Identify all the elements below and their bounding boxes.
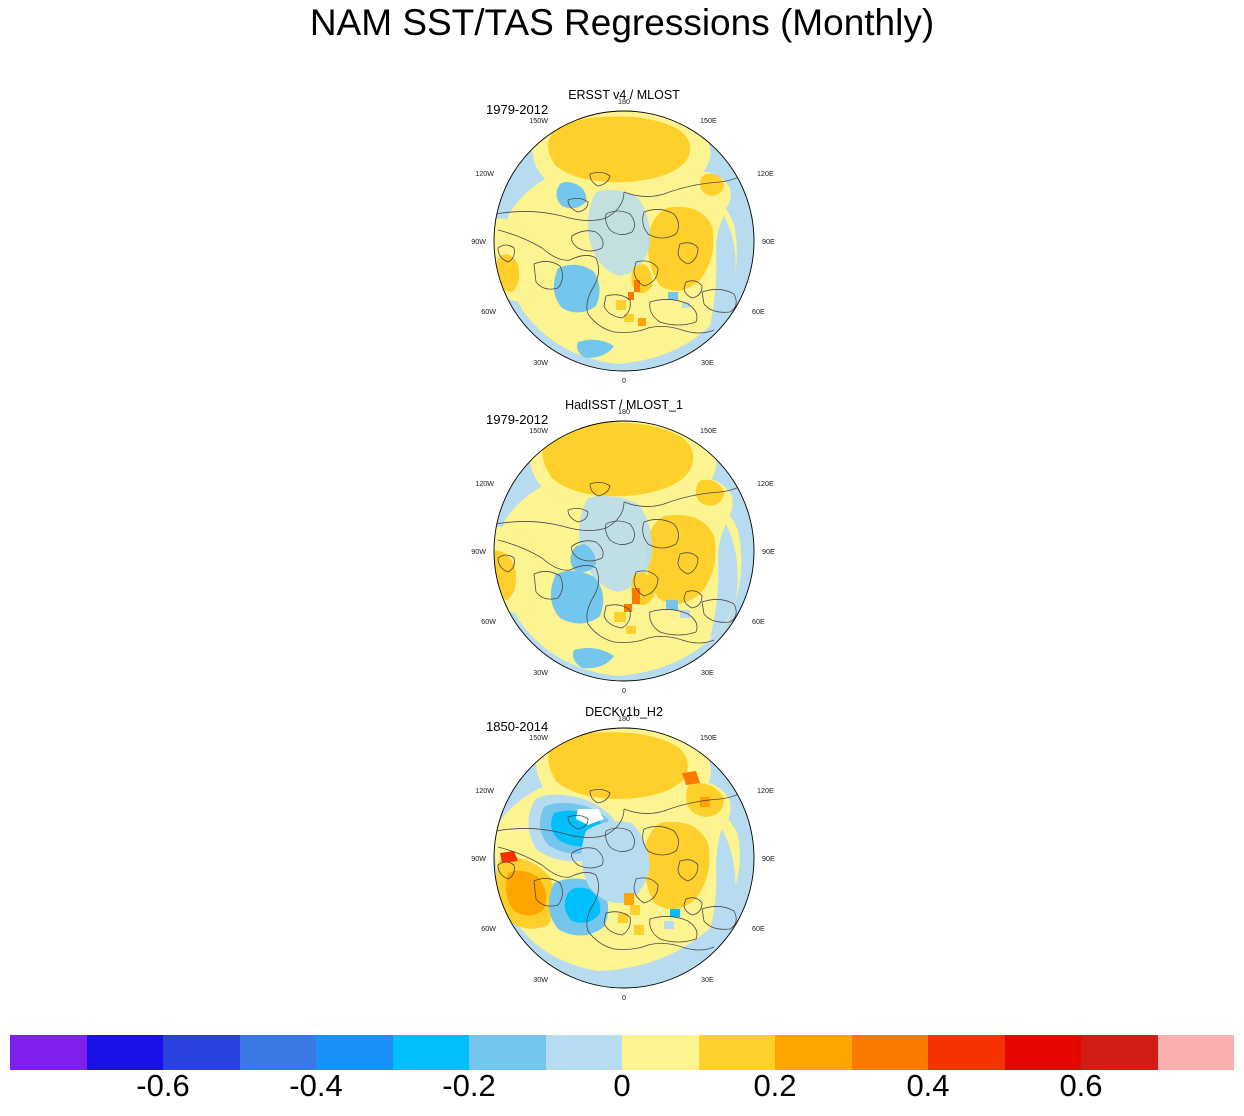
colorbar-cell: [240, 1035, 317, 1070]
colorbar-cell: [622, 1035, 699, 1070]
svg-text:60E: 60E: [752, 307, 765, 316]
colorbar-cell: [546, 1035, 623, 1070]
colorbar-cell: [393, 1035, 470, 1070]
colorbar-cell: [1081, 1035, 1158, 1070]
svg-text:180: 180: [618, 407, 630, 416]
svg-text:150E: 150E: [700, 426, 717, 435]
colorbar-tick: 0.4: [906, 1068, 949, 1104]
svg-text:60E: 60E: [752, 617, 765, 626]
colorbar-cell: [316, 1035, 393, 1070]
svg-text:30W: 30W: [533, 668, 548, 677]
colorbar-cell: [10, 1035, 87, 1070]
figure-root: NAM SST/TAS Regressions (Monthly) ERSST …: [0, 0, 1244, 1116]
svg-text:150W: 150W: [529, 116, 548, 125]
svg-text:60E: 60E: [752, 924, 765, 933]
colorbar-cell: [469, 1035, 546, 1070]
colorbar-cell: [699, 1035, 776, 1070]
colorbar-cell: [1158, 1035, 1235, 1070]
svg-text:120E: 120E: [757, 479, 774, 488]
page-title: NAM SST/TAS Regressions (Monthly): [0, 2, 1244, 44]
svg-text:120W: 120W: [475, 786, 494, 795]
polar-map-svg-1: 180 150E 120E 90E 60E 30E 0 30W 60W 90W …: [438, 96, 810, 386]
svg-text:0: 0: [622, 993, 626, 1002]
colorbar-cell: [775, 1035, 852, 1070]
colorbar-tick: 0: [613, 1068, 630, 1104]
svg-text:60W: 60W: [481, 924, 496, 933]
polar-map-svg-2: 180 150E 120E 90E 60E 30E 0 30W 60W 90W …: [438, 406, 810, 696]
svg-text:30W: 30W: [533, 358, 548, 367]
colorbar-tick: 0.6: [1059, 1068, 1102, 1104]
colorbar-tick: -0.6: [136, 1068, 189, 1104]
svg-text:150E: 150E: [700, 733, 717, 742]
svg-text:30E: 30E: [701, 358, 714, 367]
colorbar-cell: [852, 1035, 929, 1070]
svg-text:30E: 30E: [701, 975, 714, 984]
svg-text:150W: 150W: [529, 733, 548, 742]
colorbar-cell: [163, 1035, 240, 1070]
svg-text:120W: 120W: [475, 169, 494, 178]
svg-text:60W: 60W: [481, 307, 496, 316]
svg-text:90E: 90E: [762, 854, 775, 863]
colorbar-tick-labels: -0.6-0.4-0.200.20.40.6: [0, 1068, 1244, 1114]
map-fields-2: [483, 415, 754, 681]
polar-map-svg-3: 180 150E 120E 90E 60E 30E 0 30W 60W 90W …: [438, 713, 810, 1003]
svg-text:90W: 90W: [471, 547, 486, 556]
colorbar-tick: 0.2: [753, 1068, 796, 1104]
svg-text:150E: 150E: [700, 116, 717, 125]
svg-text:120W: 120W: [475, 479, 494, 488]
colorbar: [10, 1035, 1234, 1070]
svg-text:150W: 150W: [529, 426, 548, 435]
colorbar-tick: -0.2: [442, 1068, 495, 1104]
colorbar-tick: -0.4: [289, 1068, 342, 1104]
svg-text:90E: 90E: [762, 237, 775, 246]
svg-text:30E: 30E: [701, 668, 714, 677]
svg-text:180: 180: [618, 714, 630, 723]
map-panel-1: 180 150E 120E 90E 60E 30E 0 30W 60W 90W …: [438, 96, 810, 386]
svg-text:180: 180: [618, 97, 630, 106]
svg-text:30W: 30W: [533, 975, 548, 984]
map-panel-2: 180 150E 120E 90E 60E 30E 0 30W 60W 90W …: [438, 406, 810, 696]
colorbar-cell: [928, 1035, 1005, 1070]
svg-text:0: 0: [622, 376, 626, 385]
svg-text:90W: 90W: [471, 854, 486, 863]
colorbar-cell: [1005, 1035, 1082, 1070]
svg-text:60W: 60W: [481, 617, 496, 626]
colorbar-cell: [87, 1035, 164, 1070]
svg-text:90E: 90E: [762, 547, 775, 556]
map-panel-3: 180 150E 120E 90E 60E 30E 0 30W 60W 90W …: [438, 713, 810, 1003]
svg-text:120E: 120E: [757, 786, 774, 795]
svg-text:0: 0: [622, 686, 626, 695]
svg-text:90W: 90W: [471, 237, 486, 246]
svg-text:120E: 120E: [757, 169, 774, 178]
